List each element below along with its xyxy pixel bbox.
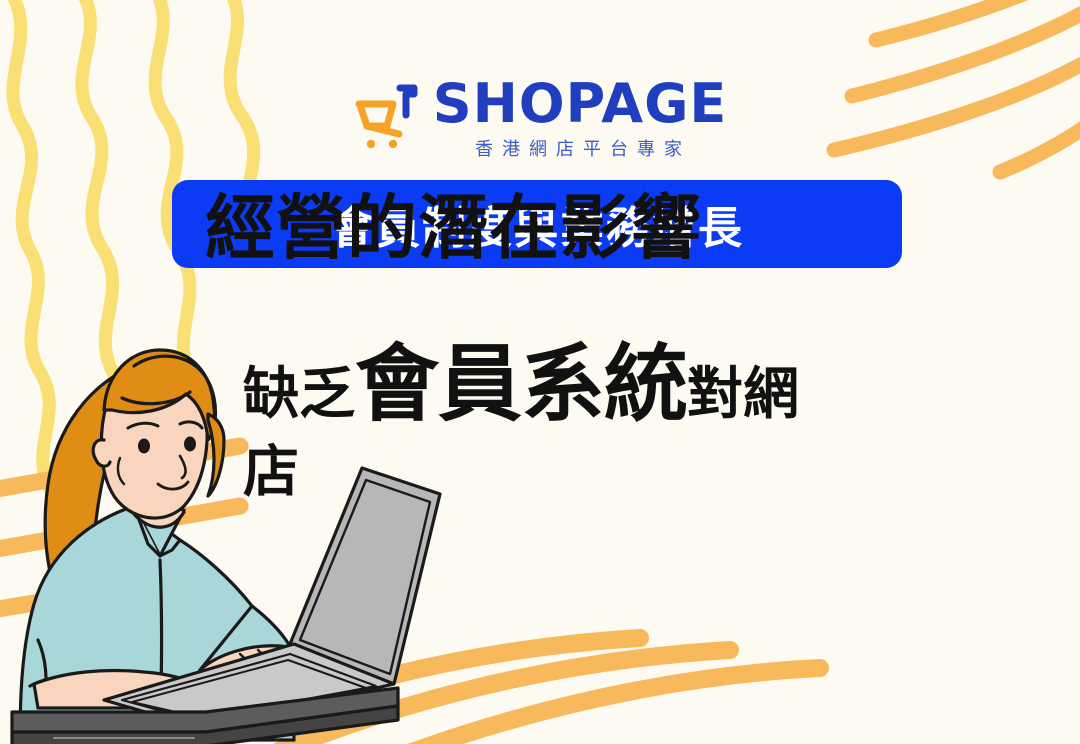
poster-canvas: SHOPAGE 香港網店平台專家 會員制度與業務增長 缺乏會員系統對網 店 經營… bbox=[0, 0, 1080, 744]
shopping-cart-icon bbox=[353, 76, 427, 156]
logo-wordmark: SHOPAGE bbox=[433, 76, 728, 133]
woman-typing-illustration bbox=[0, 288, 464, 744]
logo-tagline: 香港網店平台專家 bbox=[433, 135, 728, 161]
headline-line-3: 經營的潛在影響 bbox=[205, 180, 702, 276]
brand-logo: SHOPAGE 香港網店平台專家 bbox=[0, 76, 1080, 161]
headline-suffix: 對網 bbox=[687, 362, 799, 427]
